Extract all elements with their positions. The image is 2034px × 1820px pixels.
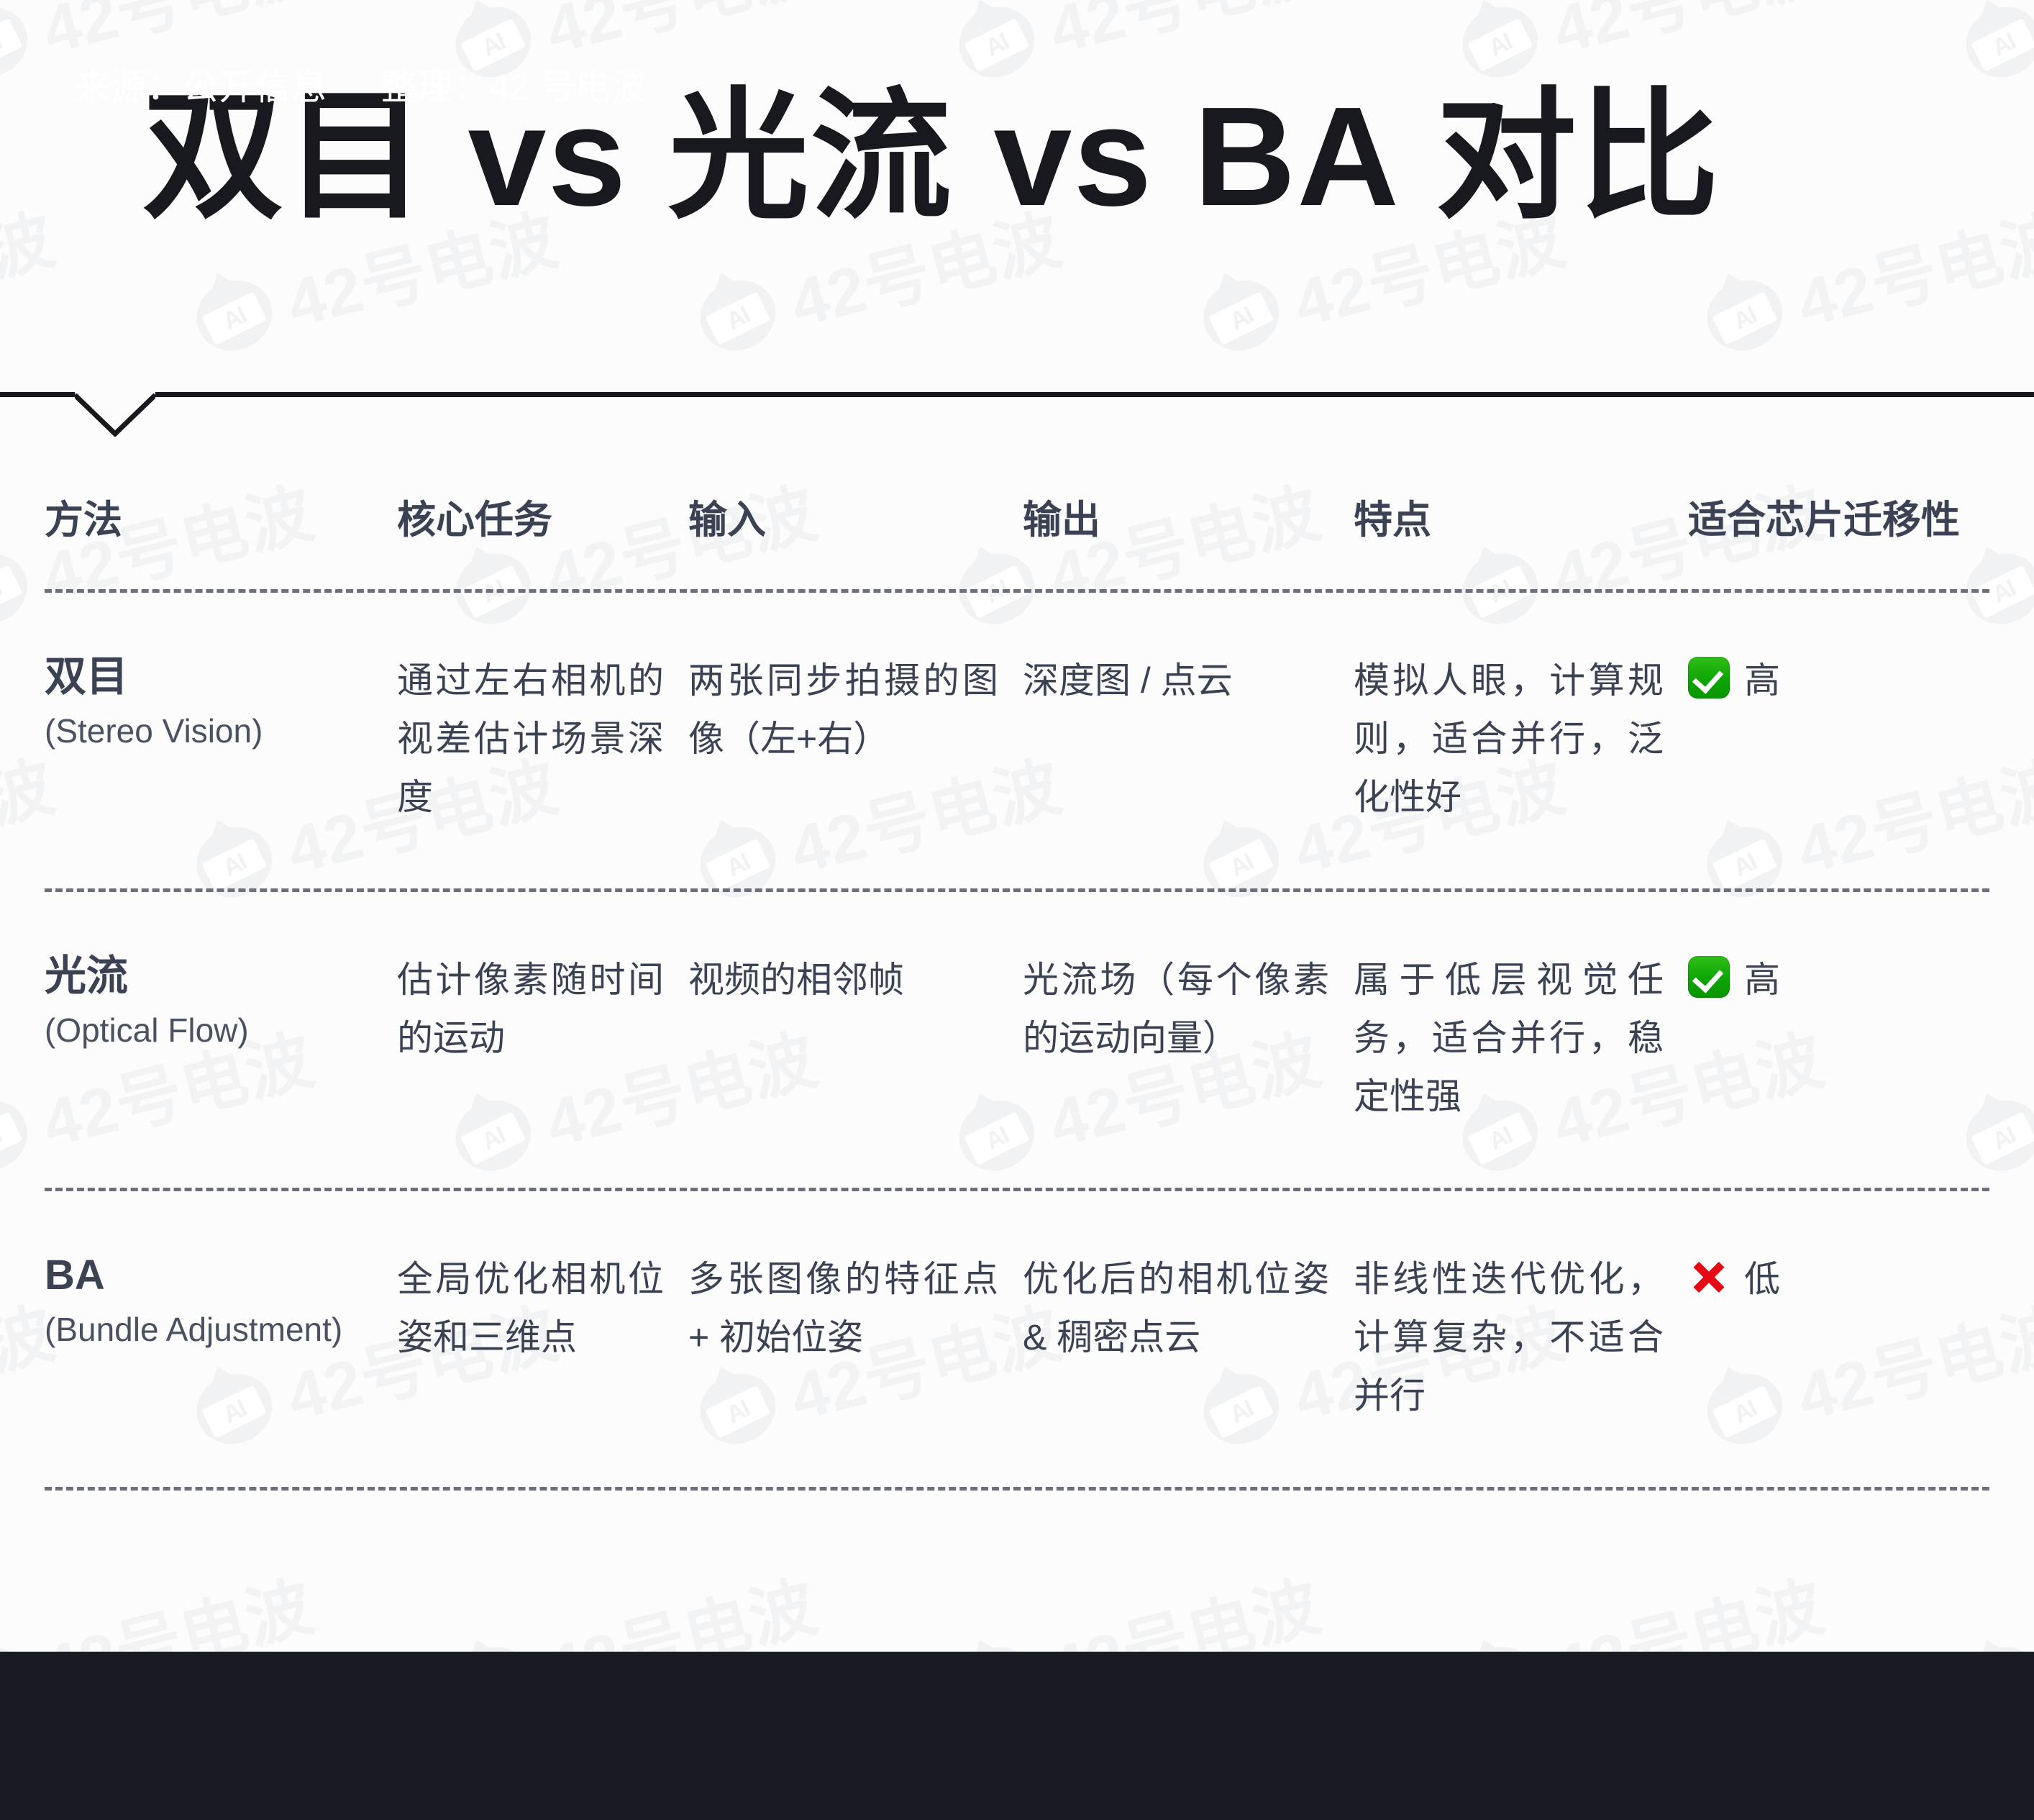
- column-header-output: 输出: [1023, 488, 1354, 545]
- column-header-input: 输入: [688, 488, 1023, 545]
- cell-core-task: 估计像素随时间的运动: [397, 951, 688, 1068]
- column-header-portability: 适合芯片迁移性: [1688, 488, 2005, 545]
- cell-portability: 低: [1688, 1250, 2005, 1302]
- method-name-en: (Stereo Vision): [45, 710, 397, 753]
- footer-source: 来源：公开信息: [75, 58, 327, 110]
- row-separator: [45, 1487, 1989, 1491]
- footer-editor: 整理：42 号电波: [381, 58, 647, 110]
- cell-portability: 高: [1688, 951, 2005, 1003]
- comparison-table: 方法 核心任务 输入 输出 特点 适合芯片迁移性 双目 (Stereo Visi…: [0, 432, 2034, 1491]
- check-mark-button-icon: [1688, 657, 1730, 699]
- table-row: 光流 (Optical Flow) 估计像素随时间的运动 视频的相邻帧 光流场（…: [0, 892, 2034, 1188]
- cell-output: 深度图 / 点云: [1023, 652, 1354, 710]
- footer: [0, 1652, 2034, 1820]
- cell-input: 多张图像的特征点 + 初始位姿: [688, 1250, 1023, 1367]
- column-header-method: 方法: [45, 488, 397, 545]
- table-row: BA (Bundle Adjustment) 全局优化相机位姿和三维点 多张图像…: [0, 1191, 2034, 1487]
- cell-output: 优化后的相机位姿 & 稠密点云: [1023, 1250, 1354, 1367]
- cell-portability: 高: [1688, 652, 2005, 704]
- method-name-cn: 光流: [45, 951, 397, 1002]
- portability-label: 低: [1744, 1250, 1780, 1302]
- cell-input: 视频的相邻帧: [688, 951, 1023, 1009]
- cell-method: BA (Bundle Adjustment): [45, 1250, 397, 1352]
- cell-method: 光流 (Optical Flow): [45, 951, 397, 1052]
- status-badge: 低: [1688, 1250, 2005, 1302]
- header-divider: [0, 392, 2034, 397]
- check-mark-button-icon: [1688, 956, 1730, 998]
- header-notch-icon: [75, 392, 155, 437]
- cell-core-task: 全局优化相机位姿和三维点: [397, 1250, 688, 1367]
- method-name-en: (Optical Flow): [45, 1009, 397, 1052]
- method-name-en: (Bundle Adjustment): [45, 1309, 397, 1352]
- table-row: 双目 (Stereo Vision) 通过左右相机的视差估计场景深度 两张同步拍…: [0, 593, 2034, 888]
- cross-mark-icon: [1688, 1255, 1730, 1297]
- cell-output: 光流场（每个像素的运动向量）: [1023, 951, 1354, 1068]
- portability-label: 高: [1744, 951, 1780, 1003]
- status-badge: 高: [1688, 652, 2005, 704]
- footer-content: 来源：公开信息 整理：42 号电波: [75, 0, 647, 168]
- cell-input: 两张同步拍摄的图像（左+右）: [688, 652, 1023, 768]
- cell-features: 非线性迭代优化，计算复杂，不适合并行: [1354, 1250, 1688, 1425]
- footer-notch-icon: [1843, 0, 1955, 53]
- cell-core-task: 通过左右相机的视差估计场景深度: [397, 652, 688, 827]
- cell-method: 双目 (Stereo Vision): [45, 652, 397, 753]
- status-badge: 高: [1688, 951, 2005, 1003]
- cell-features: 模拟人眼，计算规则，适合并行，泛化性好: [1354, 652, 1688, 827]
- method-name-cn: BA: [45, 1250, 397, 1301]
- cell-features: 属于低层视觉任务，适合并行，稳定性强: [1354, 951, 1688, 1126]
- column-header-features: 特点: [1354, 488, 1688, 545]
- method-name-cn: 双目: [45, 652, 397, 703]
- portability-label: 高: [1744, 652, 1780, 704]
- infographic-page: AI42号电波AI42号电波AI42号电波AI42号电波AI42号电波AI42号…: [0, 0, 2034, 1820]
- column-header-core-task: 核心任务: [397, 488, 688, 545]
- table-header-row: 方法 核心任务 输入 输出 特点 适合芯片迁移性: [0, 432, 2034, 589]
